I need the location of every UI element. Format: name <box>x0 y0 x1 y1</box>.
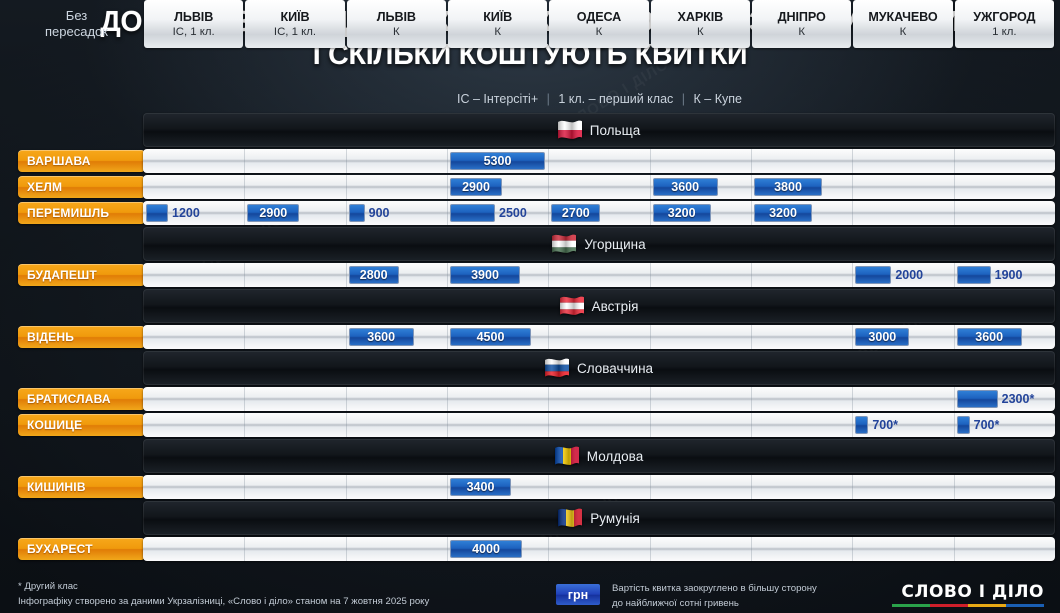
column-divider <box>244 413 245 437</box>
price-cell[interactable]: 3000 <box>852 325 953 349</box>
row-data-strip: 2800390020001900 <box>143 263 1055 287</box>
column-divider <box>244 537 245 561</box>
column-divider <box>852 149 853 173</box>
column-divider <box>751 475 752 499</box>
column-divider <box>346 387 347 411</box>
price-bar: 4500 <box>450 328 531 346</box>
row-data-strip: 4000 <box>143 537 1055 561</box>
brand-logo-text: СЛОВО І ДІЛО <box>892 582 1044 602</box>
column-header-3: ЛЬВІВК <box>347 0 446 48</box>
column-divider <box>954 149 955 173</box>
price-value: 4500 <box>477 330 505 344</box>
price-cell[interactable]: 3600 <box>650 175 751 199</box>
price-bar <box>957 390 998 408</box>
price-value: 2000 <box>895 266 923 284</box>
country-section-row: Словаччина <box>0 350 1060 386</box>
column-divider <box>751 149 752 173</box>
price-bar <box>957 416 970 434</box>
country-section-row: Румунія <box>0 500 1060 536</box>
price-bar: 3600 <box>349 328 414 346</box>
price-cell[interactable]: 2900 <box>447 175 548 199</box>
legend-item-kupe: К – Купе <box>694 92 742 106</box>
column-divider <box>447 387 448 411</box>
currency-badge: грн <box>556 584 600 605</box>
column-divider <box>751 537 752 561</box>
price-cell[interactable]: 1900 <box>954 263 1055 287</box>
footnote-line-1: * Другий клас <box>18 580 429 595</box>
country-banner: Румунія <box>143 501 1055 535</box>
column-header-class: К <box>697 26 704 38</box>
row-label-кошице[interactable]: КОШИЦЕ <box>18 414 145 436</box>
legend: ІС – Інтерсіті+ | 1 кл. – перший клас | … <box>143 92 1056 106</box>
column-header-city: МУКАЧЕВО <box>868 10 937 24</box>
price-value: 900 <box>369 204 390 222</box>
price-cell[interactable]: 3600 <box>346 325 447 349</box>
column-divider <box>954 475 955 499</box>
price-value: 2800 <box>360 268 388 282</box>
price-value: 3900 <box>471 268 499 282</box>
column-divider <box>751 413 752 437</box>
rounding-note-line-1: Вартість квитка заокруглено в більшу сто… <box>612 581 817 596</box>
column-divider <box>650 475 651 499</box>
column-header-city: ЛЬВІВ <box>377 10 416 24</box>
price-cell[interactable]: 2700 <box>548 201 649 225</box>
price-value: 700* <box>872 416 898 434</box>
row-data-strip: 3400 <box>143 475 1055 499</box>
country-banner: Словаччина <box>143 351 1055 385</box>
row-label-хелм[interactable]: ХЕЛМ <box>18 176 145 198</box>
column-header-7: ДНІПРОК <box>752 0 851 48</box>
price-cell[interactable]: 3400 <box>447 475 548 499</box>
column-header-city: ЛЬВІВ <box>174 10 213 24</box>
price-cell[interactable]: 4000 <box>447 537 548 561</box>
rounding-note-line-2: до найближчої сотні гривень <box>612 596 817 611</box>
slovakia-flag-icon <box>545 358 569 378</box>
price-value: 2700 <box>562 206 590 220</box>
column-divider <box>244 475 245 499</box>
column-header-city: КИЇВ <box>483 10 512 24</box>
column-divider <box>346 413 347 437</box>
country-banner: Польща <box>143 113 1055 147</box>
price-value: 1900 <box>995 266 1023 284</box>
column-headers: ЛЬВІВІС, 1 кл.КИЇВІС, 1 кл.ЛЬВІВККИЇВКОД… <box>143 0 1055 48</box>
price-bar: 2700 <box>551 204 600 222</box>
country-section-row: Австрія <box>0 288 1060 324</box>
row-data-strip: 290036003800 <box>143 175 1055 199</box>
column-divider <box>244 325 245 349</box>
country-section-row: Молдова <box>0 438 1060 474</box>
country-section-row: Угорщина <box>0 226 1060 262</box>
column-divider <box>954 201 955 225</box>
rounding-note: Вартість квитка заокруглено в більшу сто… <box>612 581 817 612</box>
column-divider <box>548 537 549 561</box>
brand-logo-underline <box>892 604 1044 607</box>
price-value: 3600 <box>367 330 395 344</box>
column-header-class: ІС, 1 кл. <box>274 26 316 38</box>
price-cell[interactable]: 2800 <box>346 263 447 287</box>
price-cell[interactable]: 4500 <box>447 325 548 349</box>
column-header-class: К <box>900 26 907 38</box>
column-divider <box>548 387 549 411</box>
row-label-кишинів[interactable]: КИШИНІВ <box>18 476 145 498</box>
column-divider <box>954 537 955 561</box>
column-divider <box>650 149 651 173</box>
column-header-city: ХАРКІВ <box>678 10 724 24</box>
country-name: Словаччина <box>577 361 653 376</box>
table-row[interactable]: ХЕЛМ290036003800 <box>0 174 1060 200</box>
price-cell[interactable]: 2500 <box>447 201 548 225</box>
price-value: 2300* <box>1002 390 1035 408</box>
price-bar <box>855 416 868 434</box>
row-data-strip: 2300* <box>143 387 1055 411</box>
price-cell[interactable]: 2900 <box>244 201 345 225</box>
column-divider <box>346 475 347 499</box>
price-bar: 3200 <box>653 204 711 222</box>
price-cell[interactable]: 1200 <box>143 201 244 225</box>
column-divider <box>244 149 245 173</box>
price-bar <box>957 266 991 284</box>
table-row[interactable]: ВІДЕНЬ3600450030003600 <box>0 324 1060 350</box>
column-header-6: ХАРКІВК <box>651 0 750 48</box>
column-header-2: КИЇВІС, 1 кл. <box>245 0 344 48</box>
country-section-row: Польща <box>0 112 1060 148</box>
price-value: 1200 <box>172 204 200 222</box>
column-header-city: УЖГОРОД <box>973 10 1035 24</box>
price-bar: 2800 <box>349 266 399 284</box>
price-value: 700* <box>974 416 1000 434</box>
country-name: Польща <box>590 123 640 138</box>
country-name: Угорщина <box>584 237 645 252</box>
price-cell[interactable]: 2000 <box>852 263 953 287</box>
column-divider <box>650 537 651 561</box>
price-bar: 3600 <box>957 328 1022 346</box>
row-data-strip: 700*700* <box>143 413 1055 437</box>
column-divider <box>548 475 549 499</box>
column-divider <box>852 537 853 561</box>
legend-item-first-class: 1 кл. – перший клас <box>558 92 673 106</box>
price-cell[interactable]: 700* <box>954 413 1055 437</box>
column-divider <box>548 149 549 173</box>
column-divider <box>548 175 549 199</box>
column-header-class: 1 кл. <box>992 26 1016 38</box>
row-label-перемишль[interactable]: ПЕРЕМИШЛЬ <box>18 202 145 224</box>
column-header-4: КИЇВК <box>448 0 547 48</box>
price-bar <box>349 204 365 222</box>
table-row[interactable]: ПЕРЕМИШЛЬ120029009002500270032003200 <box>0 200 1060 226</box>
price-value: 3600 <box>671 180 699 194</box>
column-header-class: К <box>596 26 603 38</box>
column-header-1: ЛЬВІВІС, 1 кл. <box>144 0 243 48</box>
column-divider <box>548 413 549 437</box>
price-bar: 5300 <box>450 152 545 170</box>
column-header-5: ОДЕСАК <box>549 0 648 48</box>
column-divider <box>650 413 651 437</box>
row-label-братислава[interactable]: БРАТИСЛАВА <box>18 388 145 410</box>
legend-item-ic: ІС – Інтерсіті+ <box>457 92 538 106</box>
price-value: 3200 <box>668 206 696 220</box>
column-divider <box>346 175 347 199</box>
austria-flag-icon <box>560 296 584 316</box>
header-left-line-1: Без <box>10 8 143 24</box>
column-divider <box>548 325 549 349</box>
country-banner: Австрія <box>143 289 1055 323</box>
price-value: 2500 <box>499 204 527 222</box>
price-cell[interactable]: 700* <box>852 413 953 437</box>
column-header-city: ОДЕСА <box>577 10 621 24</box>
footnote: * Другий клас Інфографіку створено за да… <box>18 580 429 610</box>
country-banner: Угорщина <box>143 227 1055 261</box>
column-header-class: ІС, 1 кл. <box>173 26 215 38</box>
price-bar <box>450 204 495 222</box>
legend-separator: | <box>677 92 690 106</box>
column-divider <box>650 387 651 411</box>
column-header-class: К <box>494 26 501 38</box>
price-value: 3400 <box>467 480 495 494</box>
column-header-9: УЖГОРОД1 кл. <box>955 0 1054 48</box>
price-bar: 3400 <box>450 478 511 496</box>
column-divider <box>852 475 853 499</box>
column-divider <box>852 201 853 225</box>
price-value: 3800 <box>774 180 802 194</box>
column-divider <box>346 537 347 561</box>
price-bar: 3000 <box>855 328 909 346</box>
column-divider <box>650 263 651 287</box>
price-bar: 3600 <box>653 178 718 196</box>
table-row[interactable]: КОШИЦЕ700*700* <box>0 412 1060 438</box>
moldova-flag-icon <box>555 446 579 466</box>
column-divider <box>447 413 448 437</box>
price-cell[interactable]: 5300 <box>447 149 548 173</box>
country-name: Молдова <box>587 449 643 464</box>
country-name: Австрія <box>592 299 639 314</box>
price-bar: 3900 <box>450 266 520 284</box>
row-data-strip: 3600450030003600 <box>143 325 1055 349</box>
column-divider <box>244 387 245 411</box>
footer: * Другий клас Інфографіку створено за да… <box>0 578 1060 613</box>
column-divider <box>548 263 549 287</box>
table-row[interactable]: БРАТИСЛАВА2300* <box>0 386 1060 412</box>
hungary-flag-icon <box>552 234 576 254</box>
price-value: 4000 <box>472 542 500 556</box>
table-row[interactable]: ВАРШАВА5300 <box>0 148 1060 174</box>
price-bar: 3200 <box>754 204 812 222</box>
price-cell[interactable]: 900 <box>346 201 447 225</box>
footnote-line-2: Інфографіку створено за даними Укрзалізн… <box>18 595 429 610</box>
header-left-label: Без пересадок <box>10 0 143 48</box>
poland-flag-icon <box>558 120 582 140</box>
brand-logo: СЛОВО І ДІЛО <box>892 582 1044 607</box>
header-left-line-2: пересадок <box>10 24 143 40</box>
price-bar: 2900 <box>247 204 299 222</box>
price-value: 5300 <box>484 154 512 168</box>
price-bar: 4000 <box>450 540 522 558</box>
column-header-class: К <box>798 26 805 38</box>
table-row[interactable]: КИШИНІВ3400 <box>0 474 1060 500</box>
column-divider <box>751 325 752 349</box>
price-cell[interactable]: 3200 <box>650 201 751 225</box>
price-cell[interactable]: 2300* <box>954 387 1055 411</box>
row-label-бухарест[interactable]: БУХАРЕСТ <box>18 538 145 560</box>
row-label-відень[interactable]: ВІДЕНЬ <box>18 326 145 348</box>
column-header-city: ДНІПРО <box>778 10 826 24</box>
country-banner: Молдова <box>143 439 1055 473</box>
column-divider <box>244 263 245 287</box>
column-divider <box>852 175 853 199</box>
romania-flag-icon <box>558 508 582 528</box>
table-row[interactable]: БУХАРЕСТ4000 <box>0 536 1060 562</box>
price-value: 2900 <box>462 180 490 194</box>
column-header-city: КИЇВ <box>281 10 310 24</box>
price-value: 3600 <box>975 330 1003 344</box>
column-divider <box>346 149 347 173</box>
price-bar: 3800 <box>754 178 822 196</box>
column-divider <box>954 175 955 199</box>
row-label-варшава[interactable]: ВАРШАВА <box>18 150 145 172</box>
column-header-8: МУКАЧЕВОК <box>853 0 952 48</box>
price-cell[interactable]: 3600 <box>954 325 1055 349</box>
price-value: 3200 <box>769 206 797 220</box>
price-cell[interactable]: 3800 <box>751 175 852 199</box>
column-divider <box>650 325 651 349</box>
price-bar: 2900 <box>450 178 502 196</box>
column-divider <box>244 175 245 199</box>
row-data-strip: 120029009002500270032003200 <box>143 201 1055 225</box>
column-divider <box>852 387 853 411</box>
price-value: 3000 <box>868 330 896 344</box>
row-label-будапешт[interactable]: БУДАПЕШТ <box>18 264 145 286</box>
column-divider <box>751 263 752 287</box>
price-table: ПольщаВАРШАВА5300ХЕЛМ290036003800ПЕРЕМИШ… <box>0 112 1060 562</box>
price-bar <box>146 204 168 222</box>
price-cell[interactable]: 3900 <box>447 263 548 287</box>
column-divider <box>751 387 752 411</box>
country-name: Румунія <box>590 511 640 526</box>
table-row[interactable]: БУДАПЕШТ2800390020001900 <box>0 262 1060 288</box>
row-data-strip: 5300 <box>143 149 1055 173</box>
price-bar <box>855 266 891 284</box>
price-cell[interactable]: 3200 <box>751 201 852 225</box>
price-value: 2900 <box>259 206 287 220</box>
column-header-class: К <box>393 26 400 38</box>
legend-separator: | <box>542 92 555 106</box>
